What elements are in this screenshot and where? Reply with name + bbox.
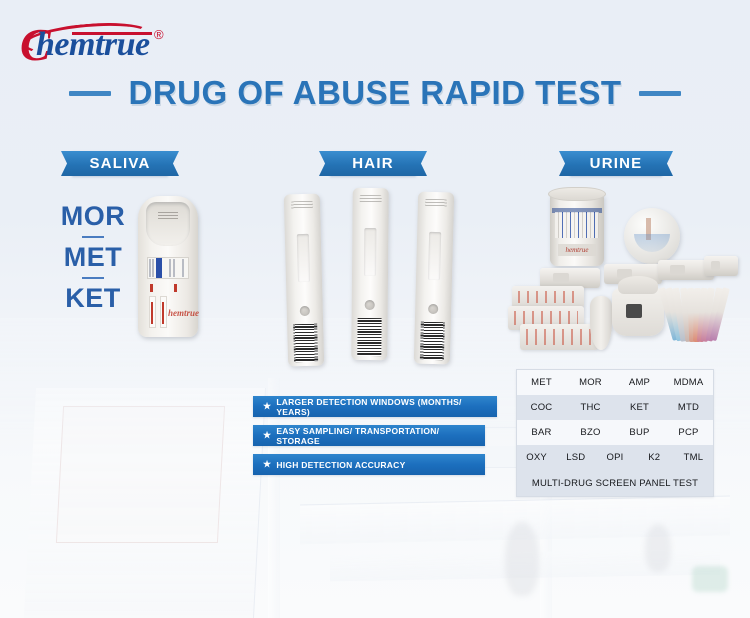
urine-multi-panel <box>512 286 584 308</box>
cassette-result-window <box>364 228 376 276</box>
saliva-test-device-image: hemtrue <box>138 196 198 337</box>
table-footer-label: MULTI-DRUG SCREEN PANEL TEST <box>517 470 713 496</box>
lid-test-strip <box>646 218 651 240</box>
cassette-result-window <box>428 232 441 280</box>
table-row: COC THC KET MTD <box>517 395 713 420</box>
saliva-strip-line <box>151 302 153 324</box>
hair-cassette <box>351 188 388 360</box>
table-row: MET MOR AMP MDMA <box>517 370 713 395</box>
table-row: OXY LSD OPI K2 TML <box>517 445 713 470</box>
brand-logo: C hemtrue ® <box>14 18 214 70</box>
page-title-text: DRUG OF ABUSE RAPID TEST <box>129 74 622 112</box>
cassette-grip-icon <box>425 199 447 208</box>
reader-cap <box>618 276 658 294</box>
background-figure <box>505 522 539 596</box>
poster-root: C hemtrue ® DRUG OF ABUSE RAPID TEST SAL… <box>0 0 750 618</box>
urine-reader-device <box>612 288 664 336</box>
star-icon: ★ <box>263 431 271 440</box>
saliva-analyte-list: MOR MET KET <box>52 203 134 312</box>
section-ribbon-saliva: SALIVA <box>72 151 168 176</box>
feature-bullet-label: EASY SAMPLING/ TRANSPORTATION/ STORAGE <box>276 426 485 446</box>
hair-cassette <box>414 192 454 365</box>
registered-trademark-icon: ® <box>154 27 164 42</box>
feature-bullet-easy-sampling: ★ EASY SAMPLING/ TRANSPORTATION/ STORAGE <box>253 425 485 446</box>
table-cell: OXY <box>517 452 556 463</box>
saliva-collector-spoon <box>590 296 612 350</box>
star-icon: ★ <box>263 402 271 411</box>
table-cell: TML <box>674 452 713 463</box>
background-plant <box>692 566 728 592</box>
section-ribbon-hair: HAIR <box>330 151 416 176</box>
cassette-grip-icon <box>291 201 313 210</box>
table-cell: LSD <box>556 452 595 463</box>
hair-test-cassettes-image <box>286 188 486 368</box>
cup-brand-label: hemtrue <box>558 244 596 256</box>
table-cell: PCP <box>664 427 713 438</box>
cassette-sample-port <box>365 300 375 310</box>
urine-test-cup: hemtrue <box>550 194 604 266</box>
urine-cassette <box>540 268 600 288</box>
urine-cup-lid-top-view <box>624 208 680 264</box>
page-title: DRUG OF ABUSE RAPID TEST <box>0 74 750 112</box>
table-cell: OPI <box>595 452 634 463</box>
saliva-device-logo: hemtrue <box>168 308 192 322</box>
table-cell: MTD <box>664 402 713 413</box>
cassette-barcode-icon <box>420 322 445 361</box>
saliva-strip-line <box>162 302 164 324</box>
title-dash-right-icon <box>639 91 681 96</box>
table-cell: MET <box>517 377 566 388</box>
saliva-control-line <box>156 258 162 278</box>
feature-bullet-label: HIGH DETECTION ACCURACY <box>276 460 405 470</box>
cup-test-strips <box>555 212 599 238</box>
table-cell: K2 <box>635 452 674 463</box>
cassette-sample-port <box>428 304 438 314</box>
panel-strip-lines <box>526 329 592 345</box>
table-row: BAR BZO BUP PCP <box>517 420 713 445</box>
urine-dip-strips <box>658 288 734 346</box>
panel-strip-lines <box>518 291 578 303</box>
star-icon: ★ <box>263 460 271 469</box>
logo-wordmark: hemtrue <box>36 28 150 62</box>
saliva-red-marker <box>150 284 153 292</box>
cassette-grip-icon <box>360 195 382 203</box>
urine-products-image: hemtrue <box>508 192 736 350</box>
urine-multi-panel <box>520 324 598 350</box>
feature-bullet-detection-window: ★ LARGER DETECTION WINDOWS (MONTHS/ YEAR… <box>253 396 497 417</box>
table-cell: BUP <box>615 427 664 438</box>
cassette-barcode-icon <box>293 324 318 363</box>
table-cell: KET <box>615 402 664 413</box>
saliva-result-line <box>169 259 171 277</box>
saliva-sample-well <box>146 202 190 246</box>
analyte-separator-icon <box>82 277 104 279</box>
feature-bullet-label: LARGER DETECTION WINDOWS (MONTHS/ YEARS) <box>276 397 497 417</box>
multi-drug-panel-table: MET MOR AMP MDMA COC THC KET MTD BAR BZO… <box>516 369 714 497</box>
table-cell: BZO <box>566 427 615 438</box>
table-cell: BAR <box>517 427 566 438</box>
title-dash-left-icon <box>69 91 111 96</box>
urine-cassette <box>704 256 738 276</box>
panel-strip-lines <box>514 311 578 325</box>
hair-feature-list: ★ LARGER DETECTION WINDOWS (MONTHS/ YEAR… <box>253 396 497 483</box>
feature-bullet-accuracy: ★ HIGH DETECTION ACCURACY <box>253 454 485 475</box>
saliva-result-line <box>173 259 175 277</box>
hair-cassette <box>284 194 324 367</box>
table-cell: MOR <box>566 377 615 388</box>
table-cell: AMP <box>615 377 664 388</box>
analyte-separator-icon <box>82 236 104 238</box>
saliva-analyte-met: MET <box>52 244 134 271</box>
cassette-barcode-icon <box>357 318 381 356</box>
section-ribbon-urine: URINE <box>570 151 662 176</box>
saliva-analyte-ket: KET <box>52 285 134 312</box>
cassette-sample-port <box>300 306 310 316</box>
cassette-result-window <box>297 234 310 282</box>
table-cell: MDMA <box>664 377 713 388</box>
saliva-result-line <box>182 259 184 277</box>
saliva-red-marker <box>174 284 177 292</box>
saliva-well-marking <box>158 212 178 221</box>
cup-lid <box>548 187 606 201</box>
saliva-analyte-mor: MOR <box>52 203 134 230</box>
saliva-result-line <box>149 259 151 277</box>
background-figure <box>645 524 671 572</box>
saliva-result-line <box>152 259 154 277</box>
table-cell: THC <box>566 402 615 413</box>
table-cell: COC <box>517 402 566 413</box>
